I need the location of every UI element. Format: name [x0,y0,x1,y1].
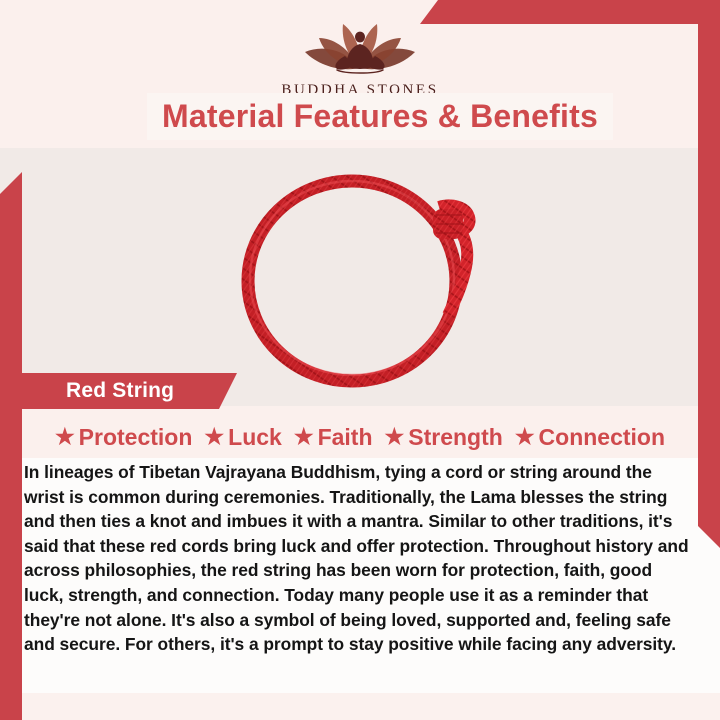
benefit-item-connection: ★ Connection [515,424,665,451]
benefit-item-strength: ★ Strength [385,424,503,451]
star-icon: ★ [204,426,224,448]
benefit-label: Luck [228,424,282,451]
benefit-item-protection: ★ Protection [55,424,192,451]
description-paragraph: In lineages of Tibetan Vajrayana Buddhis… [24,460,696,657]
benefit-item-luck: ★ Luck [204,424,281,451]
star-icon: ★ [385,426,405,448]
benefit-label: Strength [408,424,503,451]
title-banner: Material Features & Benefits [147,93,613,140]
benefit-label: Connection [539,424,666,451]
lotus-meditation-icon [297,16,423,78]
benefits-list: ★ Protection ★ Luck ★ Faith ★ Strength ★… [22,419,698,455]
brand-logo: BUDDHA STONES [0,16,720,99]
benefit-label: Protection [79,424,193,451]
red-braided-string-bracelet-icon [226,163,494,393]
page-title: Material Features & Benefits [162,98,598,135]
star-icon: ★ [55,426,75,448]
product-name-tag: Red String [22,373,237,409]
benefit-label: Faith [318,424,373,451]
hero-product-image [0,150,720,406]
product-infographic-poster: BUDDHA STONES Material Features & Benefi… [0,0,720,720]
star-icon: ★ [515,426,535,448]
background-band-bottom [0,693,720,720]
star-icon: ★ [294,426,314,448]
product-name-label: Red String [66,379,174,403]
benefit-item-faith: ★ Faith [294,424,373,451]
